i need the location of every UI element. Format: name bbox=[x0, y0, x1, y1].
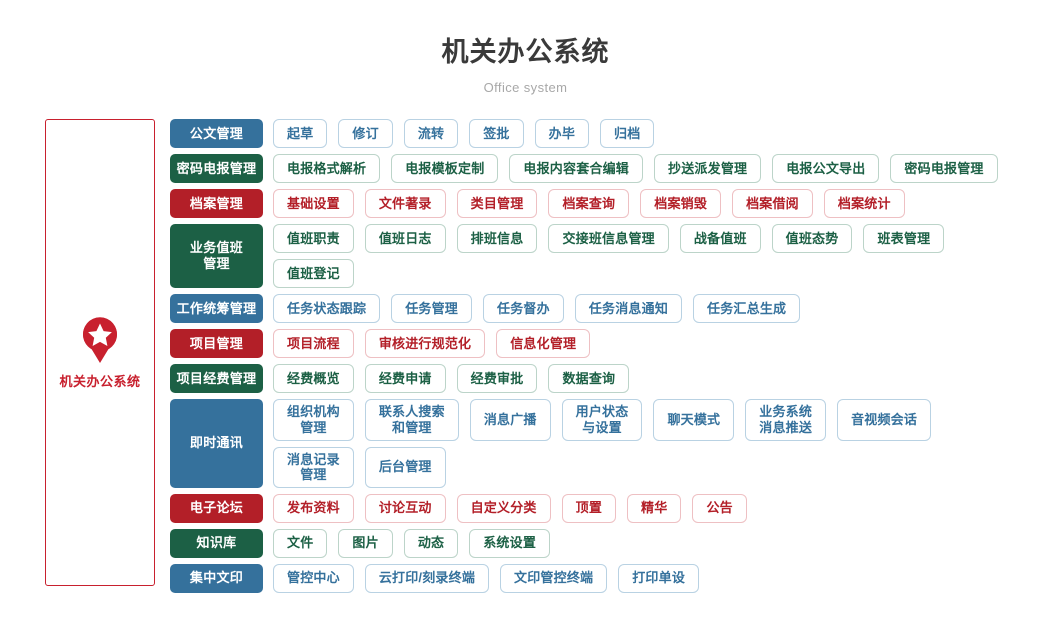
menu-item[interactable]: 值班职责 bbox=[273, 224, 354, 253]
menu-item[interactable]: 文件著录 bbox=[365, 189, 446, 218]
system-board: 机关办公系统 公文管理起草修订流转签批办毕归档密码电报管理电报格式解析电报模板定… bbox=[0, 119, 1051, 598]
menu-item[interactable]: 归档 bbox=[600, 119, 654, 148]
category-items: 电报格式解析电报模板定制电报内容套合编辑抄送派发管理电报公文导出密码电报管理 bbox=[273, 154, 1051, 183]
menu-item[interactable]: 班表管理 bbox=[863, 224, 944, 253]
category-label[interactable]: 档案管理 bbox=[170, 189, 263, 218]
page-title: 机关办公系统 bbox=[0, 36, 1051, 68]
menu-grid: 公文管理起草修订流转签批办毕归档密码电报管理电报格式解析电报模板定制电报内容套合… bbox=[170, 119, 1051, 598]
item-line: 消息记录 管理后台管理 bbox=[273, 447, 1051, 488]
menu-item[interactable]: 顶置 bbox=[562, 494, 616, 523]
category-label[interactable]: 即时通讯 bbox=[170, 399, 263, 487]
menu-item[interactable]: 云打印/刻录终端 bbox=[365, 564, 489, 593]
item-line: 项目流程审核进行规范化信息化管理 bbox=[273, 329, 1051, 358]
menu-item[interactable]: 值班日志 bbox=[365, 224, 446, 253]
category-items: 组织机构 管理联系人搜索 和管理消息广播用户状态 与设置聊天模式业务系统 消息推… bbox=[273, 399, 1051, 487]
menu-row: 电子论坛发布资料讨论互动自定义分类顶置精华公告 bbox=[170, 494, 1051, 523]
menu-item[interactable]: 档案销毁 bbox=[640, 189, 721, 218]
item-line: 发布资料讨论互动自定义分类顶置精华公告 bbox=[273, 494, 1051, 523]
menu-item[interactable]: 抄送派发管理 bbox=[654, 154, 761, 183]
menu-row: 即时通讯组织机构 管理联系人搜索 和管理消息广播用户状态 与设置聊天模式业务系统… bbox=[170, 399, 1051, 487]
item-line: 管控中心云打印/刻录终端文印管控终端打印单设 bbox=[273, 564, 1051, 593]
menu-item[interactable]: 信息化管理 bbox=[496, 329, 590, 358]
sidebar-system-label: 机关办公系统 bbox=[59, 371, 140, 390]
menu-item[interactable]: 签批 bbox=[469, 119, 523, 148]
menu-item[interactable]: 战备值班 bbox=[680, 224, 761, 253]
menu-item[interactable]: 电报内容套合编辑 bbox=[509, 154, 643, 183]
menu-row: 项目经费管理经费概览经费申请经费审批数据查询 bbox=[170, 364, 1051, 393]
category-items: 基础设置文件著录类目管理档案查询档案销毁档案借阅档案统计 bbox=[273, 189, 1051, 218]
menu-item[interactable]: 公告 bbox=[692, 494, 746, 523]
menu-item[interactable]: 数据查询 bbox=[548, 364, 629, 393]
menu-item[interactable]: 用户状态 与设置 bbox=[562, 399, 643, 440]
category-label[interactable]: 集中文印 bbox=[170, 564, 263, 593]
menu-item[interactable]: 文印管控终端 bbox=[500, 564, 607, 593]
menu-item[interactable]: 消息记录 管理 bbox=[273, 447, 354, 488]
menu-row: 档案管理基础设置文件著录类目管理档案查询档案销毁档案借阅档案统计 bbox=[170, 189, 1051, 218]
menu-item[interactable]: 档案统计 bbox=[824, 189, 905, 218]
category-label[interactable]: 项目管理 bbox=[170, 329, 263, 358]
menu-item[interactable]: 后台管理 bbox=[365, 447, 446, 488]
category-label[interactable]: 工作统筹管理 bbox=[170, 294, 263, 323]
menu-item[interactable]: 任务消息通知 bbox=[575, 294, 682, 323]
sidebar-system-card[interactable]: 机关办公系统 bbox=[45, 119, 155, 586]
menu-item[interactable]: 类目管理 bbox=[457, 189, 538, 218]
category-label[interactable]: 密码电报管理 bbox=[170, 154, 263, 183]
item-line: 值班职责值班日志排班信息交接班信息管理战备值班值班态势班表管理 bbox=[273, 224, 1051, 253]
category-items: 发布资料讨论互动自定义分类顶置精华公告 bbox=[273, 494, 1051, 523]
menu-item[interactable]: 动态 bbox=[404, 529, 458, 558]
menu-item[interactable]: 消息广播 bbox=[470, 399, 551, 440]
category-items: 文件图片动态系统设置 bbox=[273, 529, 1051, 558]
menu-item[interactable]: 任务汇总生成 bbox=[693, 294, 800, 323]
menu-item[interactable]: 审核进行规范化 bbox=[365, 329, 485, 358]
category-label[interactable]: 公文管理 bbox=[170, 119, 263, 148]
item-line: 值班登记 bbox=[273, 259, 1051, 288]
item-line: 基础设置文件著录类目管理档案查询档案销毁档案借阅档案统计 bbox=[273, 189, 1051, 218]
menu-item[interactable]: 联系人搜索 和管理 bbox=[365, 399, 459, 440]
menu-item[interactable]: 项目流程 bbox=[273, 329, 354, 358]
menu-item[interactable]: 经费申请 bbox=[365, 364, 446, 393]
category-label[interactable]: 电子论坛 bbox=[170, 494, 263, 523]
menu-item[interactable]: 起草 bbox=[273, 119, 327, 148]
menu-item[interactable]: 档案查询 bbox=[548, 189, 629, 218]
menu-item[interactable]: 经费概览 bbox=[273, 364, 354, 393]
menu-item[interactable]: 组织机构 管理 bbox=[273, 399, 354, 440]
category-label[interactable]: 项目经费管理 bbox=[170, 364, 263, 393]
menu-item[interactable]: 值班态势 bbox=[772, 224, 853, 253]
menu-item[interactable]: 业务系统 消息推送 bbox=[745, 399, 826, 440]
menu-item[interactable]: 聊天模式 bbox=[653, 399, 734, 440]
item-line: 任务状态跟踪任务管理任务督办任务消息通知任务汇总生成 bbox=[273, 294, 1051, 323]
category-label[interactable]: 业务值班 管理 bbox=[170, 224, 263, 288]
page-header: 机关办公系统 Office system bbox=[0, 0, 1051, 95]
menu-item[interactable]: 排班信息 bbox=[457, 224, 538, 253]
menu-item[interactable]: 精华 bbox=[627, 494, 681, 523]
menu-item[interactable]: 电报公文导出 bbox=[772, 154, 879, 183]
menu-item[interactable]: 讨论互动 bbox=[365, 494, 446, 523]
menu-row: 工作统筹管理任务状态跟踪任务管理任务督办任务消息通知任务汇总生成 bbox=[170, 294, 1051, 323]
item-line: 文件图片动态系统设置 bbox=[273, 529, 1051, 558]
category-label[interactable]: 知识库 bbox=[170, 529, 263, 558]
category-items: 值班职责值班日志排班信息交接班信息管理战备值班值班态势班表管理值班登记 bbox=[273, 224, 1051, 288]
category-items: 起草修订流转签批办毕归档 bbox=[273, 119, 1051, 148]
menu-item[interactable]: 办毕 bbox=[535, 119, 589, 148]
menu-row: 知识库文件图片动态系统设置 bbox=[170, 529, 1051, 558]
menu-item[interactable]: 档案借阅 bbox=[732, 189, 813, 218]
category-items: 项目流程审核进行规范化信息化管理 bbox=[273, 329, 1051, 358]
menu-item[interactable]: 流转 bbox=[404, 119, 458, 148]
menu-item[interactable]: 修订 bbox=[338, 119, 392, 148]
item-line: 组织机构 管理联系人搜索 和管理消息广播用户状态 与设置聊天模式业务系统 消息推… bbox=[273, 399, 1051, 440]
star-pin-icon bbox=[78, 315, 122, 365]
item-line: 电报格式解析电报模板定制电报内容套合编辑抄送派发管理电报公文导出密码电报管理 bbox=[273, 154, 1051, 183]
item-line: 经费概览经费申请经费审批数据查询 bbox=[273, 364, 1051, 393]
menu-item[interactable]: 任务督办 bbox=[483, 294, 564, 323]
menu-item[interactable]: 密码电报管理 bbox=[890, 154, 997, 183]
page-subtitle: Office system bbox=[0, 80, 1051, 95]
menu-item[interactable]: 音视频会话 bbox=[837, 399, 931, 440]
menu-item[interactable]: 打印单设 bbox=[618, 564, 699, 593]
menu-item[interactable]: 系统设置 bbox=[469, 529, 550, 558]
menu-item[interactable]: 交接班信息管理 bbox=[548, 224, 668, 253]
menu-item[interactable]: 基础设置 bbox=[273, 189, 354, 218]
menu-row: 密码电报管理电报格式解析电报模板定制电报内容套合编辑抄送派发管理电报公文导出密码… bbox=[170, 154, 1051, 183]
menu-row: 项目管理项目流程审核进行规范化信息化管理 bbox=[170, 329, 1051, 358]
menu-row: 集中文印管控中心云打印/刻录终端文印管控终端打印单设 bbox=[170, 564, 1051, 593]
menu-item[interactable]: 经费审批 bbox=[457, 364, 538, 393]
menu-item[interactable]: 文件 bbox=[273, 529, 327, 558]
menu-row: 业务值班 管理值班职责值班日志排班信息交接班信息管理战备值班值班态势班表管理值班… bbox=[170, 224, 1051, 288]
category-items: 任务状态跟踪任务管理任务督办任务消息通知任务汇总生成 bbox=[273, 294, 1051, 323]
menu-row: 公文管理起草修订流转签批办毕归档 bbox=[170, 119, 1051, 148]
category-items: 管控中心云打印/刻录终端文印管控终端打印单设 bbox=[273, 564, 1051, 593]
menu-item[interactable]: 图片 bbox=[338, 529, 392, 558]
category-items: 经费概览经费申请经费审批数据查询 bbox=[273, 364, 1051, 393]
item-line: 起草修订流转签批办毕归档 bbox=[273, 119, 1051, 148]
menu-item[interactable]: 值班登记 bbox=[273, 259, 354, 288]
menu-item[interactable]: 任务状态跟踪 bbox=[273, 294, 380, 323]
menu-item[interactable]: 发布资料 bbox=[273, 494, 354, 523]
menu-item[interactable]: 管控中心 bbox=[273, 564, 354, 593]
menu-item[interactable]: 自定义分类 bbox=[457, 494, 551, 523]
menu-item[interactable]: 电报模板定制 bbox=[391, 154, 498, 183]
menu-item[interactable]: 电报格式解析 bbox=[273, 154, 380, 183]
menu-item[interactable]: 任务管理 bbox=[391, 294, 472, 323]
